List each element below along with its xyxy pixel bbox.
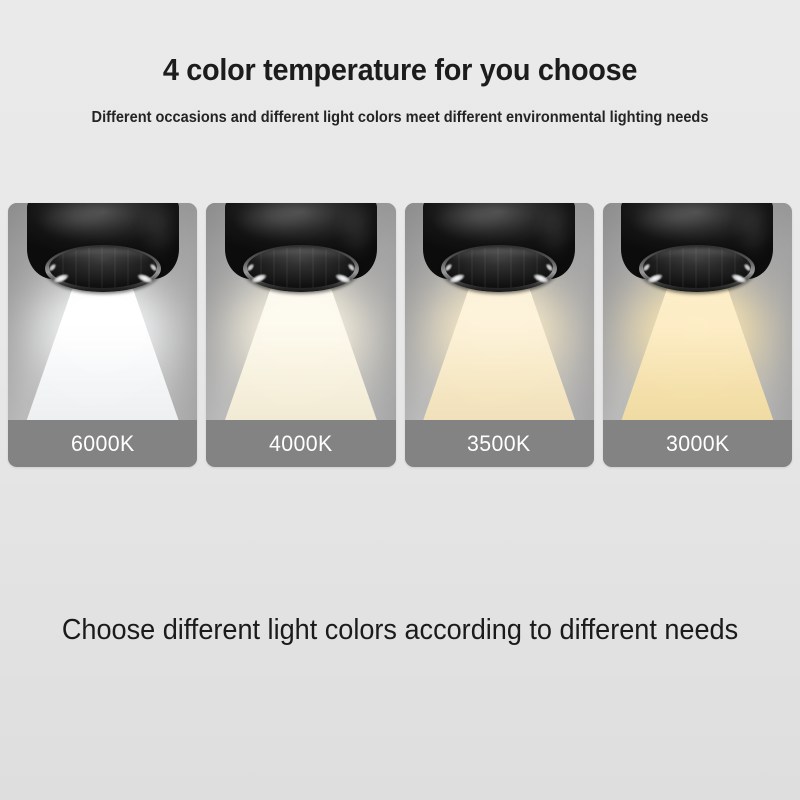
color-temperature-card[interactable]: 4000K (206, 203, 395, 467)
reflector-cone (445, 247, 553, 288)
page-subtitle: Different occasions and different light … (24, 88, 776, 127)
color-temperature-card[interactable]: 6000K (8, 203, 197, 467)
color-temperature-card[interactable]: 3000K (603, 203, 792, 467)
page-title: 4 color temperature for you choose (28, 0, 772, 88)
reflector-cone (247, 247, 355, 288)
bottom-caption: Choose different light colors according … (20, 614, 780, 647)
color-temperature-label: 3500K (467, 431, 531, 457)
downlight-fixture (27, 203, 179, 301)
product-infographic: 4 color temperature for you choose Diffe… (0, 0, 800, 800)
color-temperature-card-row: 6000K 4000K (8, 203, 792, 467)
color-temperature-label: 3000K (666, 431, 730, 457)
color-temperature-label-bar: 6000K (8, 420, 197, 467)
reflector-cone (643, 247, 751, 288)
reflector-cone (49, 247, 157, 288)
color-temperature-card[interactable]: 3500K (405, 203, 594, 467)
color-temperature-label-bar: 4000K (206, 420, 395, 467)
color-temperature-label-bar: 3000K (603, 420, 792, 467)
color-temperature-label: 6000K (71, 431, 135, 457)
color-temperature-label: 4000K (269, 431, 333, 457)
color-temperature-label-bar: 3500K (405, 420, 594, 467)
downlight-fixture (423, 203, 575, 301)
header-section: 4 color temperature for you choose Diffe… (0, 0, 800, 127)
downlight-fixture (621, 203, 773, 301)
downlight-fixture (225, 203, 377, 301)
